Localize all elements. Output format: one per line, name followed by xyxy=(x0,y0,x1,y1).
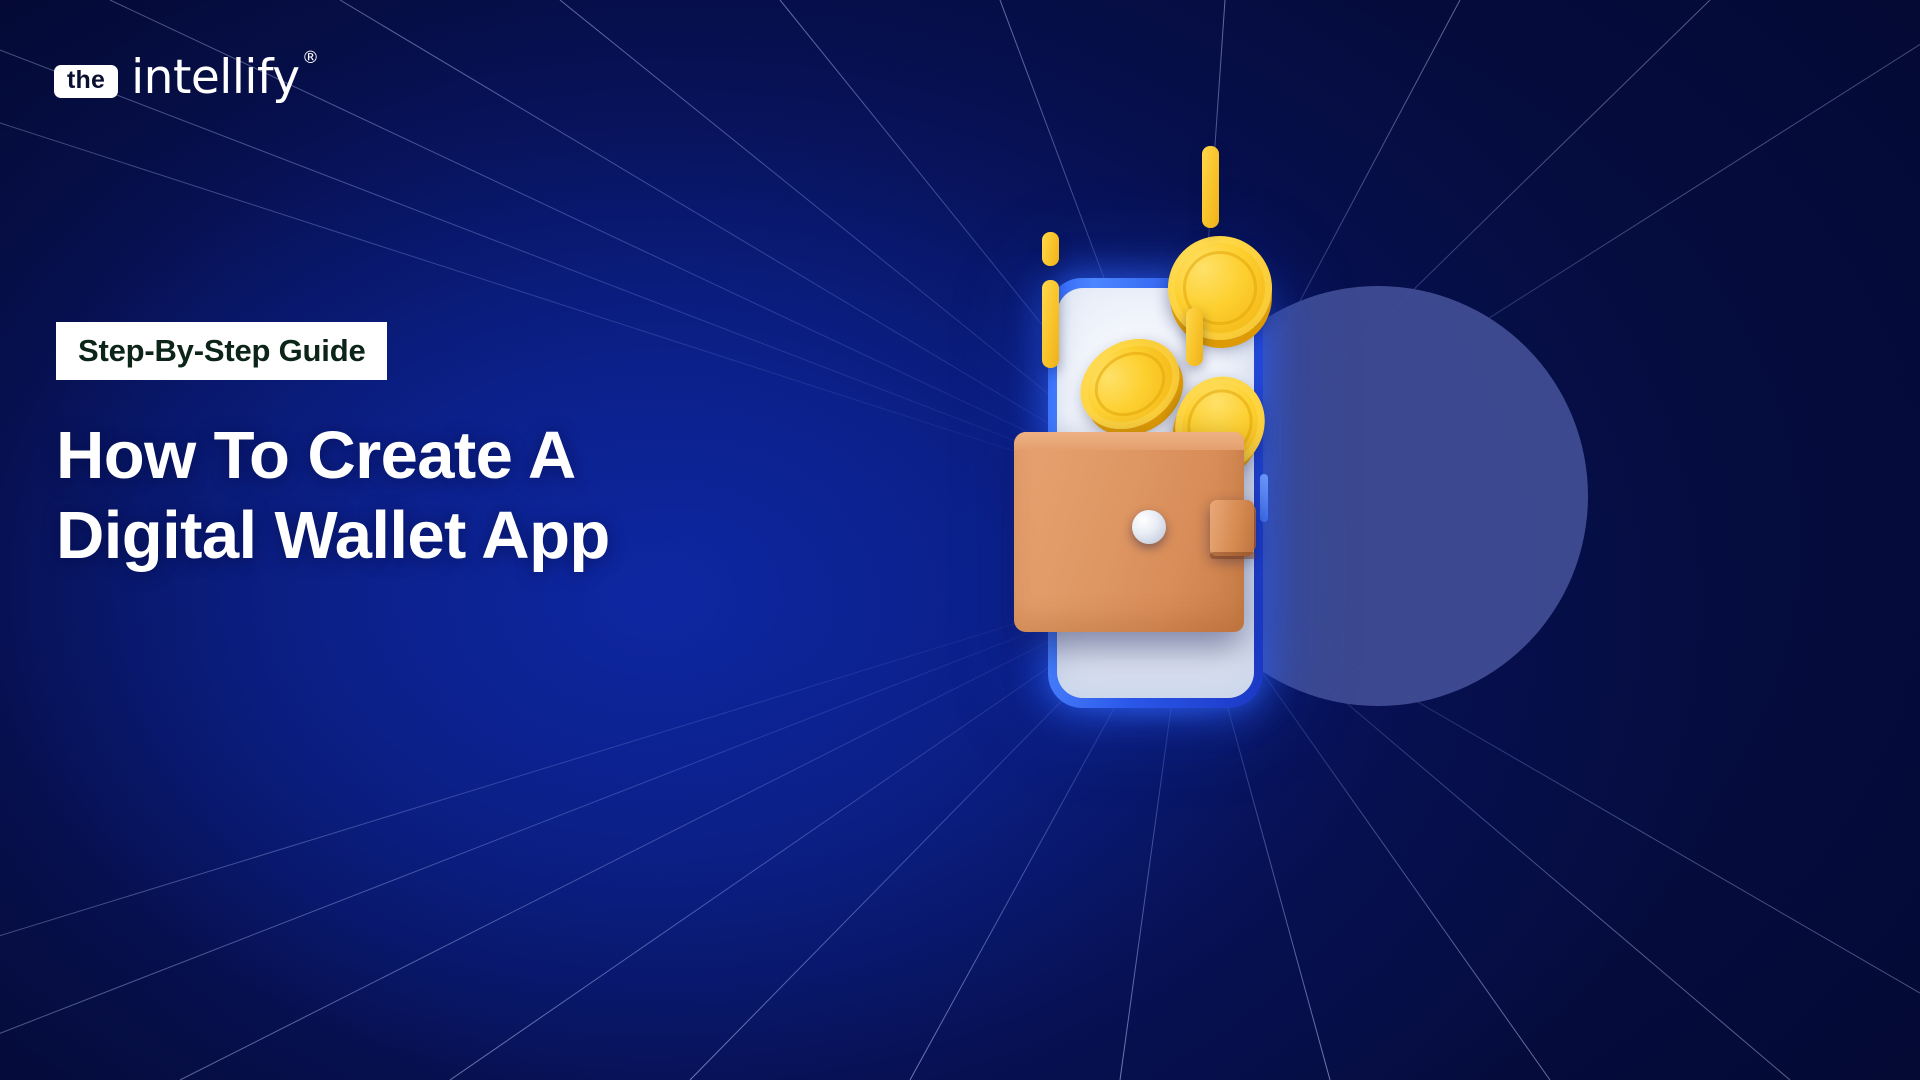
logo-wordmark: intellify ® xyxy=(131,54,299,101)
yellow-bar-icon xyxy=(1042,280,1059,368)
logo-the-badge: the xyxy=(54,65,118,98)
headline-line-2: Digital Wallet App xyxy=(56,496,816,576)
yellow-bar-icon xyxy=(1202,146,1219,228)
copy-block: Step-By-Step Guide How To Create A Digit… xyxy=(56,322,816,575)
gold-coin-icon xyxy=(1163,231,1277,345)
yellow-bar-icon xyxy=(1186,308,1203,366)
eyebrow-badge: Step-By-Step Guide xyxy=(56,322,387,380)
leather-wallet-icon xyxy=(1014,432,1266,632)
wallet-clasp-icon xyxy=(1132,510,1166,544)
registered-trademark-icon: ® xyxy=(302,50,319,67)
banner-canvas: the intellify ® Step-By-Step Guide How T… xyxy=(0,0,1920,1080)
wallet-strap xyxy=(1210,500,1254,556)
headline-line-1: How To Create A xyxy=(56,416,816,496)
brand-logo[interactable]: the intellify ® xyxy=(54,52,300,104)
logo-wordmark-text: intellify xyxy=(131,50,299,105)
page-title: How To Create A Digital Wallet App xyxy=(56,416,816,575)
wallet-top-edge xyxy=(1014,432,1244,450)
yellow-bar-icon xyxy=(1042,232,1059,266)
digital-wallet-illustration xyxy=(990,120,1450,740)
wallet-strap-shadow xyxy=(1210,552,1256,559)
